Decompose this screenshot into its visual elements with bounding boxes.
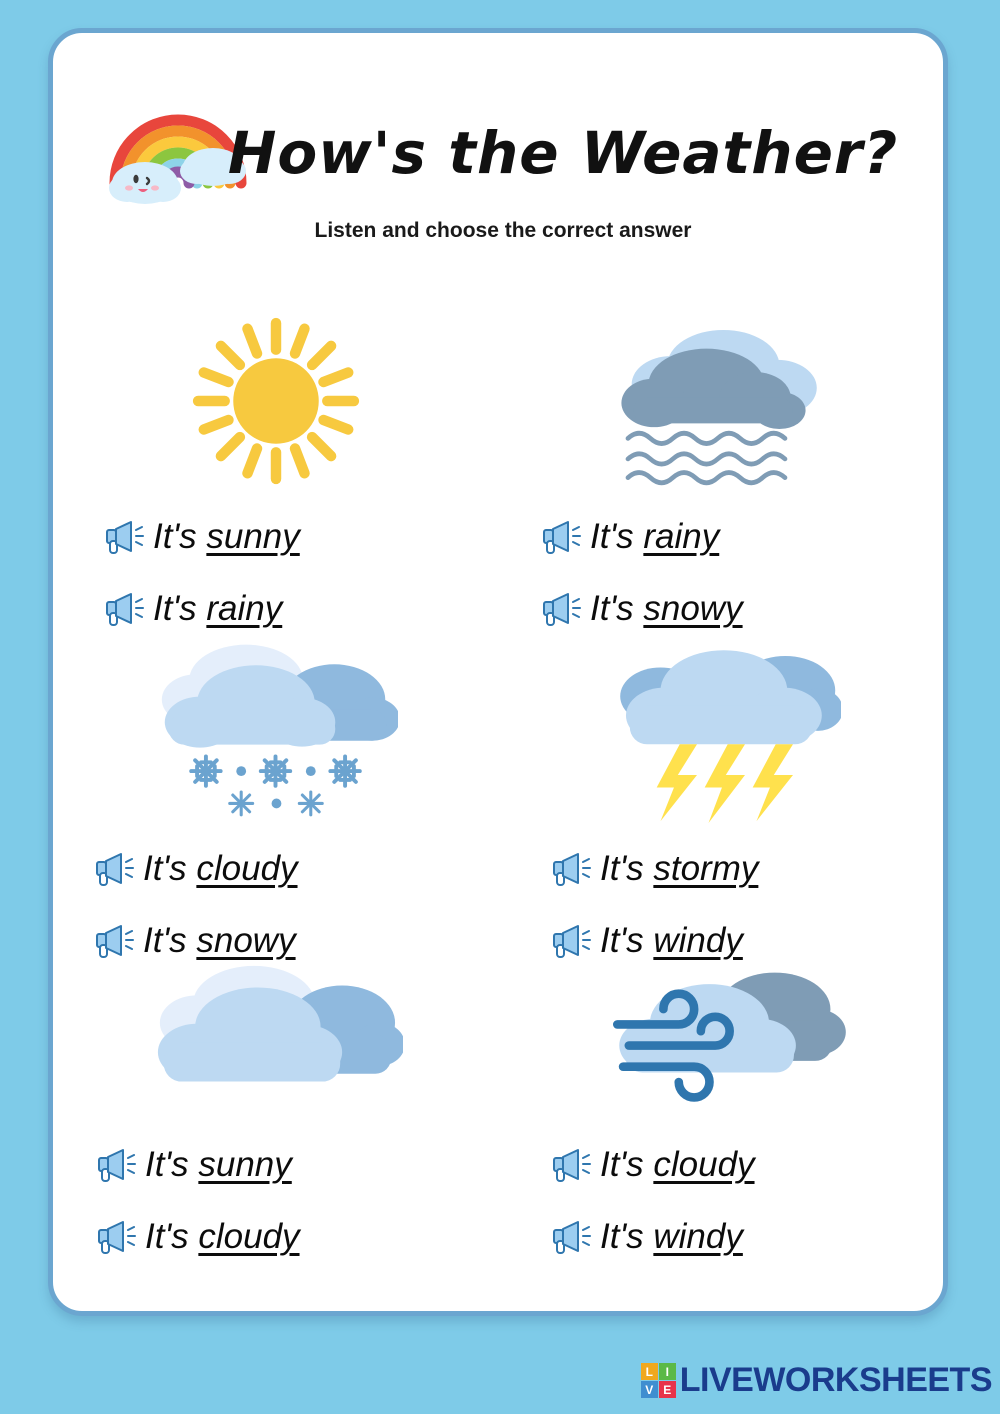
logo-letter-l: L — [641, 1363, 658, 1380]
option-label: It's sunny — [145, 1145, 292, 1185]
rain-cloud-icon — [498, 301, 943, 501]
liveworksheets-logo-icon: L I V E — [641, 1363, 676, 1398]
exercise-item-cloudy: It's sunny — [53, 941, 498, 1241]
speaker-icon[interactable] — [550, 1219, 596, 1255]
option-row[interactable]: It's sunny — [103, 501, 498, 573]
speaker-icon[interactable] — [103, 519, 149, 555]
option-row[interactable]: It's sunny — [95, 1129, 498, 1201]
cloudy-icon — [53, 941, 498, 1129]
page-title: How's the Weather? — [213, 119, 913, 187]
speaker-icon[interactable] — [550, 1147, 596, 1183]
exercise-item-stormy: It's stormy — [498, 621, 943, 941]
speaker-icon[interactable] — [95, 1219, 141, 1255]
option-label: It's stormy — [600, 849, 758, 889]
option-label: It's windy — [600, 1217, 743, 1257]
speaker-icon[interactable] — [540, 519, 586, 555]
snow-cloud-icon — [53, 621, 498, 833]
exercise-item-rainy: It's rainy — [498, 301, 943, 621]
liveworksheets-brand[interactable]: L I V E LIVEWORKSHEETS — [641, 1361, 992, 1400]
option-row[interactable]: It's stormy — [550, 833, 943, 905]
option-row[interactable]: It's rainy — [540, 501, 943, 573]
storm-cloud-icon — [498, 621, 943, 833]
option-label: It's rainy — [590, 517, 719, 557]
speaker-icon[interactable] — [550, 851, 596, 887]
wind-cloud-icon — [498, 941, 943, 1129]
logo-letter-i: I — [659, 1363, 676, 1380]
option-row[interactable]: It's cloudy — [95, 1201, 498, 1273]
sun-icon — [53, 301, 498, 501]
speaker-icon[interactable] — [95, 1147, 141, 1183]
exercise-item-windy: It's cloudy — [498, 941, 943, 1241]
option-row[interactable]: It's cloudy — [93, 833, 498, 905]
exercise-item-sunny: It's sunny — [53, 301, 498, 621]
brand-wordmark: LIVEWORKSHEETS — [680, 1361, 992, 1400]
logo-letter-e: E — [659, 1381, 676, 1398]
page-subtitle: Listen and choose the correct answer — [153, 219, 853, 243]
option-label: It's cloudy — [145, 1217, 300, 1257]
option-label: It's cloudy — [600, 1145, 755, 1185]
option-list: It's sunny — [53, 1129, 498, 1273]
option-label: It's cloudy — [143, 849, 298, 889]
worksheet-card: How's the Weather? Listen and choose the… — [48, 28, 948, 1316]
option-row[interactable]: It's cloudy — [550, 1129, 943, 1201]
option-row[interactable]: It's windy — [550, 1201, 943, 1273]
speaker-icon[interactable] — [93, 851, 139, 887]
worksheet-header: How's the Weather? Listen and choose the… — [53, 33, 943, 263]
exercise-item-snowy: It's cloudy — [53, 621, 498, 941]
logo-letter-v: V — [641, 1381, 658, 1398]
exercise-grid: It's sunny — [53, 301, 943, 1241]
option-list: It's cloudy — [498, 1129, 943, 1273]
option-label: It's sunny — [153, 517, 300, 557]
